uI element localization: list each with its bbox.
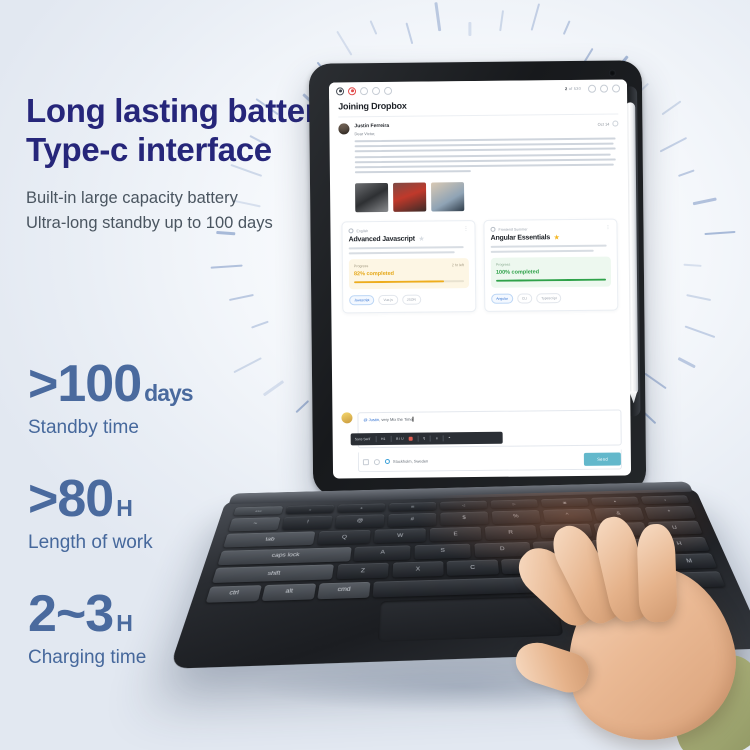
mail-body (330, 133, 628, 176)
tag-chip[interactable]: Angular (491, 294, 513, 304)
compose-text: @ Justin, very Mix the Time (363, 417, 413, 423)
archive-icon[interactable] (336, 87, 344, 95)
list-icon[interactable]: ≡ (436, 436, 438, 440)
tag-chip[interactable]: Vue.js (378, 295, 397, 305)
progress-head: Progress 2 hr left (354, 263, 464, 268)
key-fn[interactable]: ▷ (490, 499, 538, 508)
formatting-toolbar[interactable]: Sans Serif H1 B I U ¶ ≡ ❝ (351, 432, 503, 446)
key-fn[interactable]: ● (590, 497, 639, 506)
key-c[interactable]: C (447, 560, 499, 576)
progress-head: Progress (496, 262, 606, 267)
card-menu-icon[interactable]: ⋮ (463, 227, 468, 231)
stat-unit: days (144, 382, 192, 405)
progress-percent: 100% completed (496, 269, 606, 276)
divider (443, 435, 444, 441)
stat-label: Standby time (28, 417, 288, 439)
hand-typing (530, 512, 750, 750)
location-pin-icon (385, 459, 390, 464)
progress-label: Progress (496, 263, 510, 267)
key-caps-lock[interactable]: caps lock (218, 547, 352, 565)
key-a[interactable]: A (354, 545, 411, 561)
heading-selector[interactable]: H1 (381, 437, 385, 441)
reply-icon[interactable] (360, 87, 368, 95)
key-4[interactable]: $ (440, 511, 489, 525)
star-icon[interactable]: ★ (554, 234, 559, 241)
card-category: English (348, 227, 468, 233)
forward-icon[interactable] (372, 87, 380, 95)
mail-date-row: Oct 14 (598, 121, 619, 127)
attachment-thumbnail[interactable] (355, 183, 388, 212)
globe-icon (490, 227, 495, 232)
key-2[interactable]: @ (335, 514, 385, 528)
tag-chip[interactable]: Javascript (349, 295, 374, 305)
compose-footer: Stockholm, Sweden Send (358, 449, 622, 472)
card-category-label: Frontend Summer (498, 227, 527, 231)
text-color-icon[interactable] (409, 437, 413, 441)
card-progress: Progress 100% completed (491, 256, 611, 287)
key-z[interactable]: Z (336, 563, 389, 580)
card-title: Advanced Javascript (349, 236, 415, 244)
tag-chip[interactable]: CLI (517, 293, 532, 303)
align-icon[interactable]: ¶ (423, 437, 425, 441)
key-e[interactable]: E (430, 527, 482, 542)
card-tag-list: Javascript Vue.js JSON (349, 294, 469, 305)
compose-mention: @ Justin (363, 417, 379, 422)
progress-percent: 82% completed (354, 270, 464, 277)
pagination-total: of 530 (569, 86, 581, 91)
key-fn[interactable]: ☀ (337, 503, 386, 512)
pagination-counter: 2 of 530 (565, 86, 581, 91)
star-icon[interactable]: ★ (419, 236, 424, 243)
attach-image-icon[interactable] (363, 459, 369, 465)
stat-value: >100 days (28, 358, 288, 410)
card-title-row: Angular Essentials ★ (491, 234, 611, 242)
compose-body-text: , very Mix the Time (379, 417, 413, 422)
divider (430, 435, 431, 441)
compose-row: @ Justin, very Mix the Time Sans Serif H… (341, 405, 621, 449)
key-3[interactable]: # (388, 513, 437, 527)
key-w[interactable]: W (374, 528, 426, 543)
progress-bar (354, 280, 464, 283)
camera-icon (609, 70, 616, 77)
send-button[interactable]: Send (584, 453, 621, 466)
card-title: Angular Essentials (491, 235, 550, 243)
settings-gear-icon[interactable] (612, 84, 620, 92)
stat-number: >100 (28, 358, 141, 410)
key-ctrl[interactable]: ctrl (206, 585, 262, 603)
progress-bar (496, 279, 606, 282)
tablet-device: 2 of 530 Joining Dropbox Justin Ferreira… (309, 60, 647, 495)
card-tag-list: Angular CLI Typescript (491, 292, 611, 303)
key-fn[interactable]: ◁ (440, 501, 488, 510)
emoji-icon[interactable] (374, 459, 380, 465)
location-row[interactable]: Stockholm, Sweden (385, 459, 428, 464)
little-finger (636, 523, 677, 622)
card-description (349, 246, 469, 254)
font-family-selector[interactable]: Sans Serif (355, 437, 371, 441)
card-description (491, 245, 611, 253)
card-progress: Progress 2 hr left 82% completed (349, 258, 469, 289)
text-caret (413, 417, 414, 422)
card-menu-icon[interactable]: ⋮ (605, 226, 610, 230)
key-cmd[interactable]: cmd (317, 581, 370, 598)
avatar (338, 123, 349, 134)
next-page-icon[interactable] (600, 84, 608, 92)
key-esc[interactable]: esc (233, 506, 283, 515)
compose-input[interactable]: @ Justin, very Mix the Time Sans Serif H… (357, 410, 621, 449)
tag-chip[interactable]: JSON (402, 294, 421, 304)
key-fn[interactable]: ◑ (640, 495, 689, 504)
location-label: Stockholm, Sweden (393, 459, 428, 464)
prev-page-icon[interactable] (588, 84, 596, 92)
key-fn[interactable]: ☼ (285, 505, 334, 514)
divider (418, 436, 419, 442)
globe-icon (348, 229, 353, 234)
mail-attachments (330, 174, 628, 220)
key-tilde[interactable]: ~ (228, 517, 281, 531)
key-q[interactable]: Q (317, 530, 371, 545)
course-card-advanced-javascript[interactable]: ⋮ English Advanced Javascript ★ (341, 220, 476, 313)
divider (390, 436, 391, 442)
stat-standby-time: >100 days Standby time (28, 358, 288, 439)
toolbar-spacer (396, 89, 561, 91)
compose-area: @ Justin, very Mix the Time Sans Serif H… (332, 404, 631, 478)
stat-unit: H (116, 497, 132, 520)
stat-number: 2~3 (28, 588, 113, 640)
card-category: Frontend Summer (490, 226, 610, 232)
key-1[interactable]: ! (282, 515, 333, 529)
quote-icon[interactable]: ❝ (448, 436, 450, 440)
card-title-row: Advanced Javascript ★ (349, 235, 469, 243)
progress-label: Progress (354, 264, 368, 268)
key-alt[interactable]: alt (262, 583, 316, 600)
stat-unit: H (116, 612, 132, 635)
divider (375, 436, 376, 442)
delete-icon[interactable] (348, 87, 356, 95)
course-card-list: ⋮ English Advanced Javascript ★ (330, 217, 629, 314)
tablet-screen: 2 of 530 Joining Dropbox Justin Ferreira… (329, 79, 631, 478)
key-fn[interactable]: ▣ (540, 498, 589, 507)
pagination-current: 2 (565, 86, 567, 91)
card-category-label: English (356, 229, 368, 233)
more-actions-icon[interactable] (384, 86, 392, 94)
time-left-label: 2 hr left (452, 263, 464, 267)
key-fn[interactable]: ⊞ (389, 502, 437, 511)
compose-avatar (341, 412, 352, 423)
key-tab[interactable]: tab (223, 531, 316, 547)
sender-name: Justin Ferreira (354, 121, 592, 129)
mail-options-icon[interactable] (612, 121, 618, 127)
mail-date: Oct 14 (598, 121, 610, 126)
product-marketing-image: Long lasting battery life Type-c interfa… (0, 0, 750, 750)
course-card-angular-essentials[interactable]: ⋮ Frontend Summer Angular Essentials ★ (483, 219, 618, 312)
text-style-buttons[interactable]: B I U (396, 437, 404, 441)
key-shift[interactable]: shift (212, 564, 334, 583)
attachment-thumbnail[interactable] (431, 182, 464, 211)
key-x[interactable]: X (392, 561, 444, 577)
tag-chip[interactable]: Typescript (536, 293, 562, 303)
attachment-thumbnail[interactable] (393, 183, 426, 212)
stat-number: >80 (28, 473, 113, 525)
key-s[interactable]: S (414, 543, 471, 559)
